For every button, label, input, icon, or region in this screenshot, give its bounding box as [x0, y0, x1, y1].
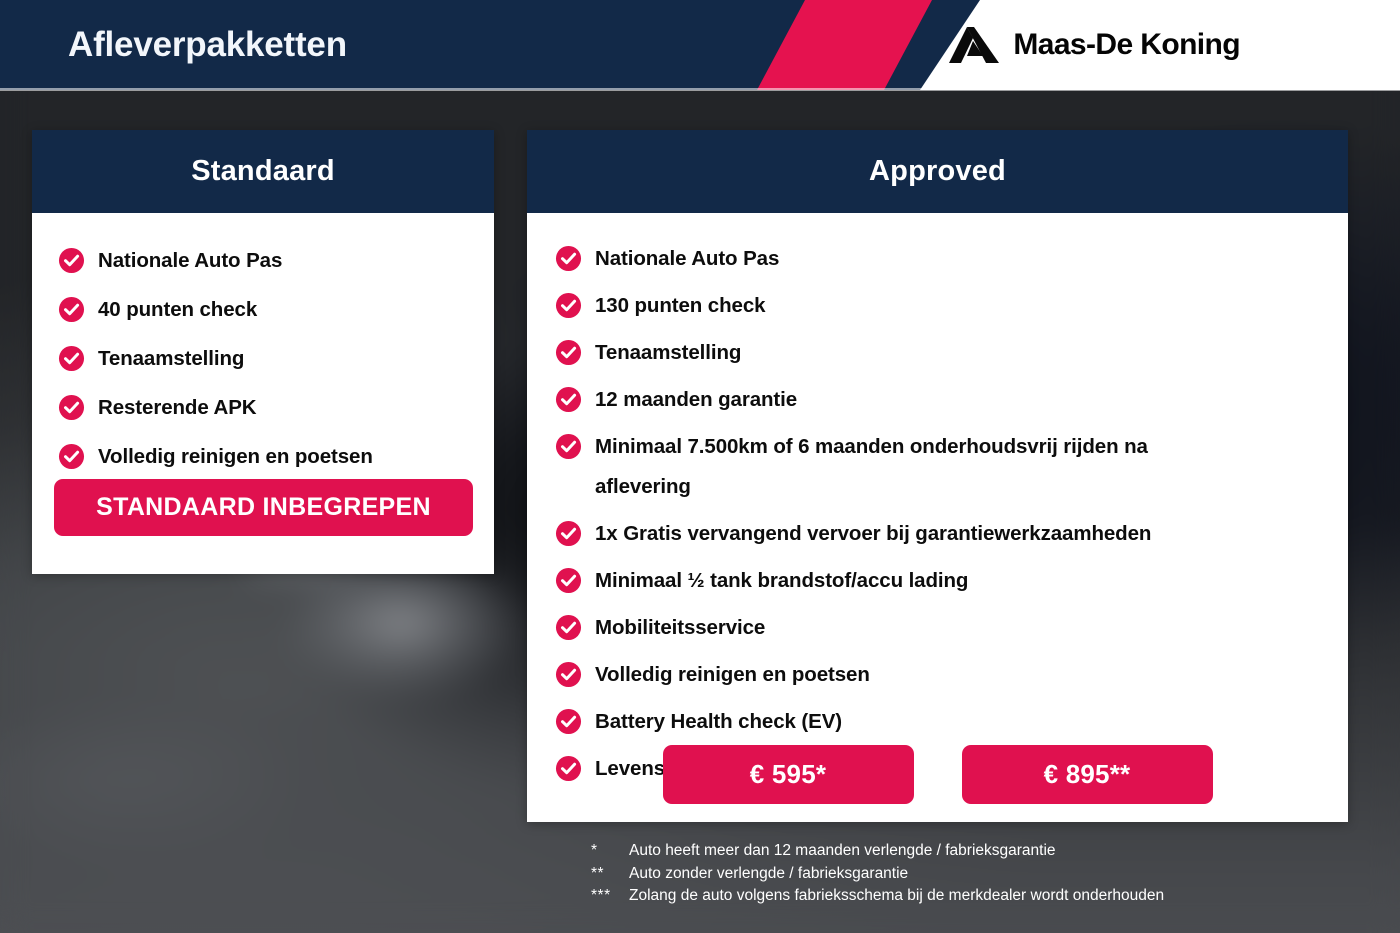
check-circle-icon — [555, 520, 582, 547]
list-item: Volledig reinigen en poetsen — [58, 437, 494, 477]
card-body-standaard: Nationale Auto Pas 40 punten check Tenaa… — [32, 241, 494, 477]
feature-label: Tenaamstelling — [595, 333, 741, 373]
list-item: Battery Health check (EV) — [555, 702, 1348, 742]
list-item: Nationale Auto Pas — [58, 241, 494, 281]
check-circle-icon — [555, 292, 582, 319]
list-item: 12 maanden garantie — [555, 380, 1348, 420]
feature-label: Volledig reinigen en poetsen — [595, 655, 870, 695]
card-body-approved: Nationale Auto Pas 130 punten check Tena… — [527, 239, 1348, 789]
feature-label: Mobiliteitsservice — [595, 608, 765, 648]
card-title-approved: Approved — [527, 130, 1348, 213]
feature-list-standaard: Nationale Auto Pas 40 punten check Tenaa… — [58, 241, 494, 477]
package-card-approved: Approved Nationale Auto Pas 130 punten c… — [527, 130, 1348, 822]
footnote-marker: * — [591, 840, 629, 863]
check-circle-icon — [555, 245, 582, 272]
feature-label: Nationale Auto Pas — [595, 239, 779, 279]
feature-label: 40 punten check — [98, 290, 257, 330]
feature-label: 1x Gratis vervangend vervoer bij garanti… — [595, 514, 1151, 554]
card-title-standaard: Standaard — [32, 130, 494, 213]
brand-logo: Maas-De Koning — [947, 0, 1240, 90]
list-item: Minimaal 7.500km of 6 maanden onderhouds… — [555, 427, 1348, 507]
feature-list-approved: Nationale Auto Pas 130 punten check Tena… — [555, 239, 1348, 789]
list-item: Resterende APK — [58, 388, 494, 428]
maas-de-koning-logo-icon — [947, 25, 999, 65]
footnote-row: * Auto heeft meer dan 12 maanden verleng… — [591, 840, 1164, 863]
feature-label: Resterende APK — [98, 388, 256, 428]
check-circle-icon — [58, 345, 85, 372]
package-card-standaard: Standaard Nationale Auto Pas 40 punten c… — [32, 130, 494, 574]
header-bottom-divider — [0, 88, 1400, 91]
footnote-marker: *** — [591, 885, 629, 908]
feature-label: Minimaal 7.500km of 6 maanden onderhouds… — [595, 427, 1235, 507]
brand-name: Maas-De Koning — [1013, 28, 1240, 62]
feature-label: 12 maanden garantie — [595, 380, 797, 420]
list-item: Volledig reinigen en poetsen — [555, 655, 1348, 695]
check-circle-icon — [555, 567, 582, 594]
check-circle-icon — [58, 394, 85, 421]
footnote-marker: ** — [591, 863, 629, 886]
feature-label: Battery Health check (EV) — [595, 702, 842, 742]
check-circle-icon — [555, 661, 582, 688]
footnote-text: Auto heeft meer dan 12 maanden verlengde… — [629, 840, 1056, 863]
price-button-595[interactable]: € 595* — [663, 745, 914, 804]
page-header: Afleverpakketten Maas-De Koning — [0, 0, 1400, 90]
standaard-included-button[interactable]: STANDAARD INBEGREPEN — [54, 479, 473, 536]
check-circle-icon — [555, 433, 582, 460]
feature-label: Minimaal ½ tank brandstof/accu lading — [595, 561, 968, 601]
check-circle-icon — [555, 339, 582, 366]
check-circle-icon — [555, 708, 582, 735]
feature-label: Volledig reinigen en poetsen — [98, 437, 373, 477]
check-circle-icon — [58, 247, 85, 274]
list-item: Minimaal ½ tank brandstof/accu lading — [555, 561, 1348, 601]
header-pink-diagonal-stripe — [757, 0, 932, 90]
list-item: Tenaamstelling — [58, 339, 494, 379]
footnote-text: Auto zonder verlengde / fabrieksgarantie — [629, 863, 908, 886]
list-item: 40 punten check — [58, 290, 494, 330]
footnotes: * Auto heeft meer dan 12 maanden verleng… — [591, 840, 1164, 908]
page-title: Afleverpakketten — [68, 0, 347, 90]
list-item: Nationale Auto Pas — [555, 239, 1348, 279]
check-circle-icon — [58, 296, 85, 323]
feature-label: Nationale Auto Pas — [98, 241, 282, 281]
feature-label: Tenaamstelling — [98, 339, 244, 379]
list-item: Mobiliteitsservice — [555, 608, 1348, 648]
list-item: 1x Gratis vervangend vervoer bij garanti… — [555, 514, 1348, 554]
check-circle-icon — [58, 443, 85, 470]
check-circle-icon — [555, 386, 582, 413]
footnote-text: Zolang de auto volgens fabrieksschema bi… — [629, 885, 1164, 908]
price-button-row: € 595* € 895** — [527, 745, 1348, 804]
feature-label: 130 punten check — [595, 286, 765, 326]
footnote-row: ** Auto zonder verlengde / fabrieksgaran… — [591, 863, 1164, 886]
price-button-895[interactable]: € 895** — [962, 745, 1213, 804]
list-item: Tenaamstelling — [555, 333, 1348, 373]
list-item: 130 punten check — [555, 286, 1348, 326]
footnote-row: *** Zolang de auto volgens fabrieksschem… — [591, 885, 1164, 908]
check-circle-icon — [555, 614, 582, 641]
